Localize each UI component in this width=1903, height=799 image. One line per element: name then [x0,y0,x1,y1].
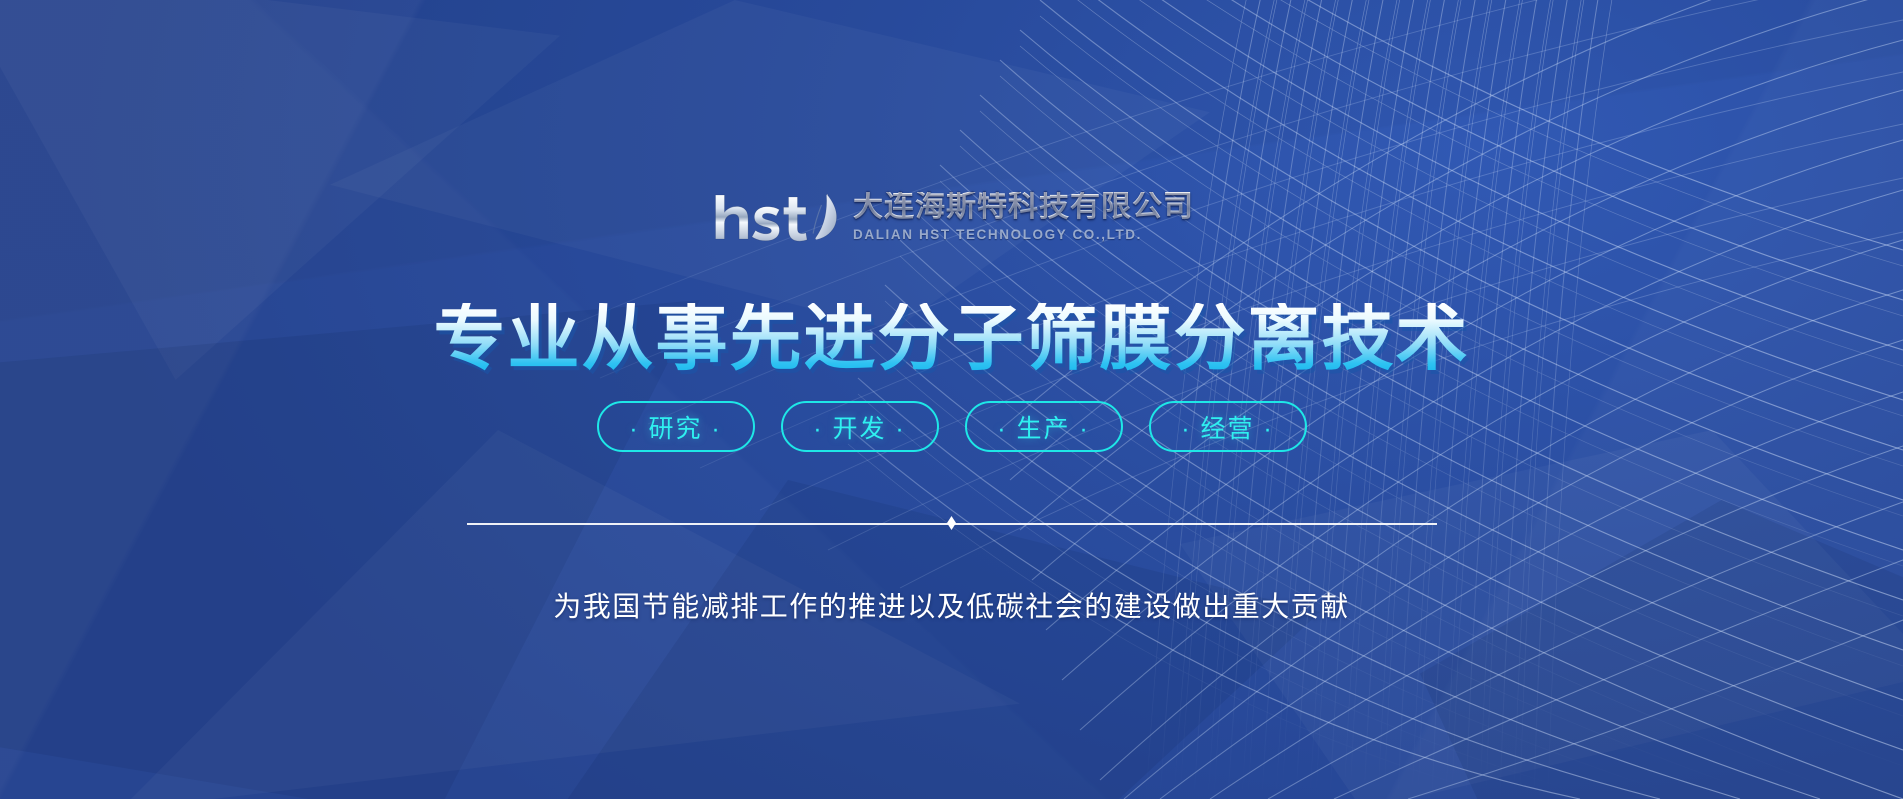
company-logo[interactable]: 大连海斯特科技有限公司 DALIAN HST TECHNOLOGY CO.,LT… [709,189,1194,245]
company-name-cn: 大连海斯特科技有限公司 [853,192,1194,222]
capability-pill-group: · 研究 · · 开发 · · 生产 · · 经营 · [597,401,1307,452]
company-name-en: DALIAN HST TECHNOLOGY CO.,LTD. [853,228,1194,242]
section-divider [467,516,1437,530]
page-title: 专业从事先进分子筛膜分离技术 [433,303,1469,375]
company-name-block: 大连海斯特科技有限公司 DALIAN HST TECHNOLOGY CO.,LT… [853,192,1194,242]
diamond-icon [947,516,956,530]
pill-development[interactable]: · 开发 · [781,401,939,452]
banner-content: 大连海斯特科技有限公司 DALIAN HST TECHNOLOGY CO.,LT… [0,0,1903,799]
pill-research[interactable]: · 研究 · [597,401,755,452]
pill-production[interactable]: · 生产 · [965,401,1123,452]
pill-operation[interactable]: · 经营 · [1149,401,1307,452]
hst-logo-mark-icon [709,189,839,245]
leaf-droplet-icon [815,194,836,239]
page-subtitle: 为我国节能减排工作的推进以及低碳社会的建设做出重大贡献 [553,585,1350,625]
hero-banner: 大连海斯特科技有限公司 DALIAN HST TECHNOLOGY CO.,LT… [0,0,1903,799]
